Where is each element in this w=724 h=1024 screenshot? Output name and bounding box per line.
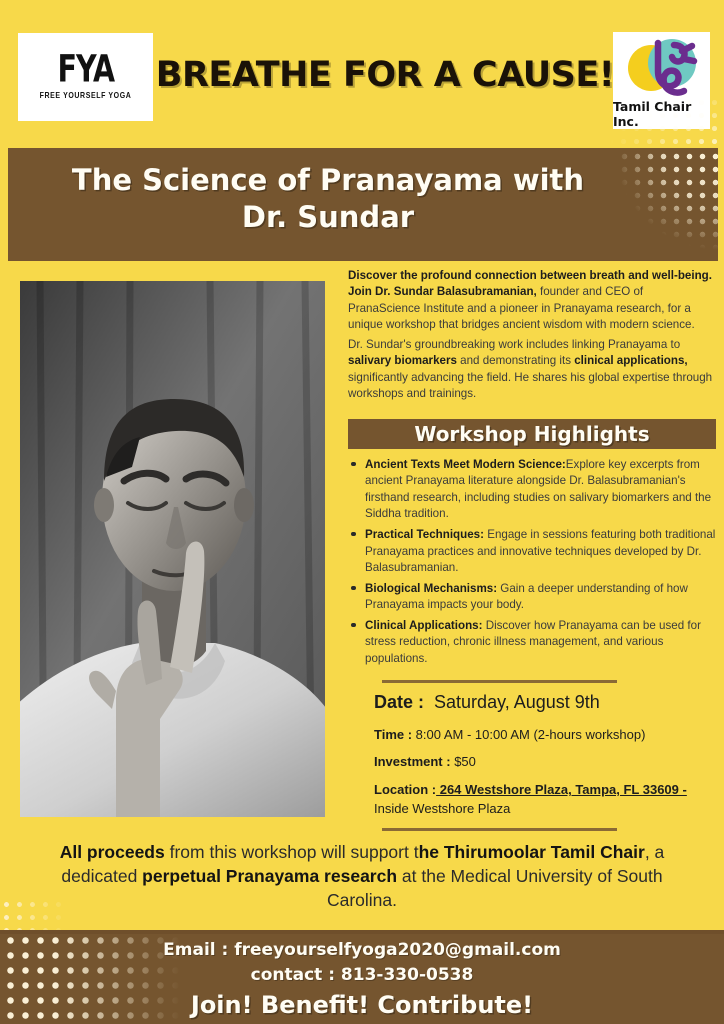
highlight-title: Biological Mechanisms: bbox=[365, 582, 497, 595]
workshop-highlights-heading: Workshop Highlights bbox=[414, 422, 649, 446]
tamil-chair-logo-art bbox=[626, 37, 698, 98]
details-divider-top bbox=[382, 680, 617, 683]
highlight-title: Clinical Applications: bbox=[365, 619, 482, 632]
intro-p2-c: and demonstrating its bbox=[457, 354, 574, 367]
highlight-title: Practical Techniques: bbox=[365, 528, 484, 541]
event-date: Date : Saturday, August 9th bbox=[374, 692, 716, 713]
tamil-glyph-icon bbox=[634, 37, 700, 99]
proceeds-e: perpetual Pranayama research bbox=[142, 866, 397, 886]
intro-paragraph-1: Discover the profound connection between… bbox=[348, 268, 716, 334]
proceeds-b: from this workshop will support t bbox=[165, 842, 419, 862]
footer-content: Email : freeyourselfyoga2020@gmail.com c… bbox=[0, 930, 724, 1019]
title-band: The Science of Pranayama with Dr. Sundar bbox=[8, 148, 718, 261]
proceeds-statement: All proceeds from this workshop will sup… bbox=[40, 840, 684, 912]
workshop-highlights-band: Workshop Highlights bbox=[348, 419, 716, 449]
page-title: BREATHE FOR A CAUSE! bbox=[170, 44, 600, 106]
contact-email[interactable]: Email : freeyourselfyoga2020@gmail.com bbox=[0, 938, 724, 963]
intro-p1-bold: Discover the profound connection between… bbox=[348, 269, 712, 298]
speaker-photo bbox=[20, 281, 325, 817]
fya-logo-tagline: FREE YOURSELF YOGA bbox=[40, 92, 132, 100]
event-details: Date : Saturday, August 9th Time : 8:00 … bbox=[348, 692, 716, 819]
highlight-title: Ancient Texts Meet Modern Science: bbox=[365, 458, 566, 471]
intro-p2-bold-1: salivary biomarkers bbox=[348, 354, 457, 367]
event-investment-label: Investment : bbox=[374, 754, 451, 769]
fya-logo-mark: FYA bbox=[57, 51, 114, 89]
list-item: Practical Techniques: Engage in sessions… bbox=[348, 527, 716, 577]
event-time: Time : 8:00 AM - 10:00 AM (2-hours works… bbox=[374, 726, 716, 745]
workshop-title-line1: The Science of Pranayama with bbox=[72, 163, 584, 197]
workshop-highlights-list: Ancient Texts Meet Modern Science:Explor… bbox=[348, 457, 716, 668]
workshop-title-line2: Dr. Sundar bbox=[242, 200, 414, 234]
event-location-address: 264 Westshore Plaza, Tampa, FL 33609 - bbox=[436, 782, 687, 797]
fya-logo-icon: FYA FREE YOURSELF YOGA bbox=[18, 33, 153, 121]
intro-p2-bold-2: clinical applications, bbox=[574, 354, 687, 367]
event-location-label: Location : bbox=[374, 782, 436, 797]
proceeds-c: he Thirumoolar Tamil Chair bbox=[419, 842, 645, 862]
event-investment: Investment : $50 bbox=[374, 753, 716, 772]
right-column: Discover the profound connection between… bbox=[348, 268, 716, 831]
contact-phone[interactable]: contact : 813-330-0538 bbox=[0, 963, 724, 988]
intro-paragraphs: Discover the profound connection between… bbox=[348, 268, 716, 403]
intro-paragraph-2: Dr. Sundar's groundbreaking work include… bbox=[348, 337, 716, 403]
event-date-label: Date : bbox=[374, 692, 424, 712]
intro-p2-d: significantly advancing the field. He sh… bbox=[348, 371, 712, 400]
intro-p2-a: Dr. Sundar's groundbreaking work include… bbox=[348, 338, 680, 351]
poster: FYA FREE YOURSELF YOGA BREATHE FOR A CAU… bbox=[0, 0, 724, 1024]
event-time-value: 8:00 AM - 10:00 AM (2-hours workshop) bbox=[412, 727, 645, 742]
details-divider-bottom bbox=[382, 828, 617, 831]
proceeds-a: All proceeds bbox=[60, 842, 165, 862]
top-right-halftone-decoration bbox=[604, 96, 724, 152]
speaker-photo-illustration bbox=[20, 281, 325, 817]
event-investment-value: $50 bbox=[451, 754, 476, 769]
footer-slogan: Join! Benefit! Contribute! bbox=[0, 991, 724, 1019]
footer-top-rule bbox=[0, 930, 724, 934]
bottom-left-halftone-decoration bbox=[0, 898, 70, 932]
poster-footer: Email : freeyourselfyoga2020@gmail.com c… bbox=[0, 930, 724, 1024]
list-item: Biological Mechanisms: Gain a deeper und… bbox=[348, 581, 716, 614]
list-item: Ancient Texts Meet Modern Science:Explor… bbox=[348, 457, 716, 523]
workshop-title: The Science of Pranayama with Dr. Sundar bbox=[8, 148, 718, 236]
event-location: Location : 264 Westshore Plaza, Tampa, F… bbox=[374, 781, 716, 819]
list-item: Clinical Applications: Discover how Pran… bbox=[348, 618, 716, 668]
event-date-value: Saturday, August 9th bbox=[434, 692, 600, 712]
event-location-note: Inside Westshore Plaza bbox=[374, 801, 510, 816]
event-time-label: Time : bbox=[374, 727, 412, 742]
